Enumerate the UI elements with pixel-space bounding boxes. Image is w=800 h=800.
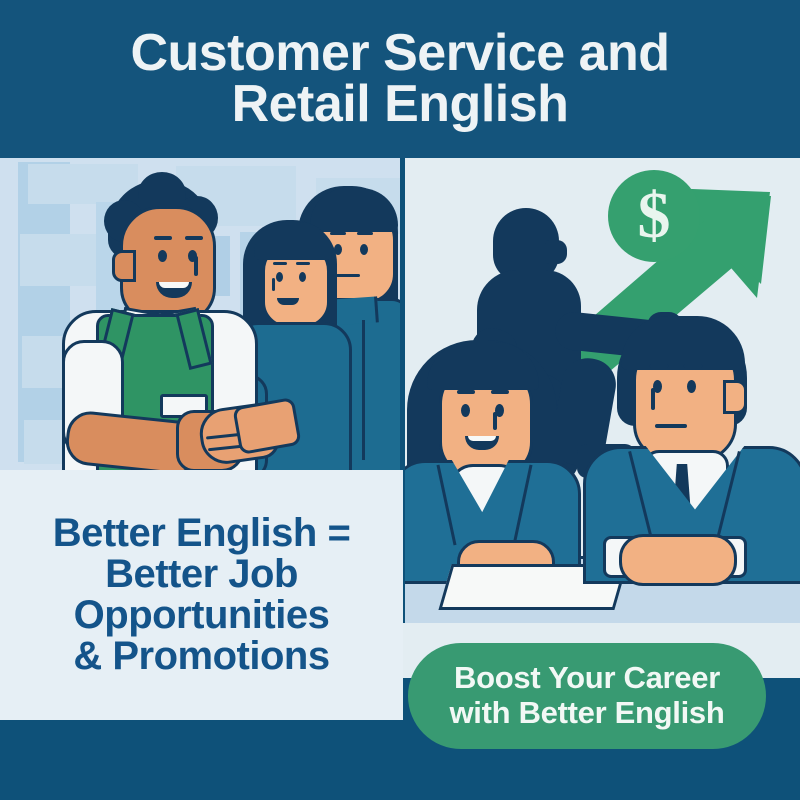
clerk-teeth [159,282,189,288]
clerk-brow [185,236,203,240]
customer-man-placket [362,320,365,460]
businesswoman-brow [491,390,509,394]
clerk-nose [194,256,198,276]
businesswoman-nose [493,412,497,430]
customer-man-mouth [336,274,360,277]
right-illustration-panel: $ [405,158,800,623]
businessman-brow [649,364,669,368]
customer-woman-nose [272,278,275,291]
businessman-mouth [655,424,687,428]
businessman-brow [683,364,703,368]
tagline-panel: Better English = Better Job Opportunitie… [0,470,403,720]
page-title: Customer Service and Retail English [100,28,699,130]
customer-man-brow [357,232,373,235]
tagline-text: Better English = Better Job Opportunitie… [43,513,361,676]
clerk-ear [112,250,136,282]
customer-woman-mouth [277,298,299,305]
businessman-nose [651,388,655,410]
clerk-brow [154,236,172,240]
poster-canvas: $ [0,0,800,800]
businessman-hands [619,534,737,586]
businessman-ear [723,380,747,414]
businessman-eye [687,380,696,393]
left-illustration-panel [0,158,400,470]
businesswoman-brow [457,390,475,394]
poster-header: Customer Service and Retail English [0,0,800,158]
customer-man-brow [330,232,346,235]
businesswoman-eye [461,404,470,417]
boost-career-cta-button[interactable]: Boost Your Career with Better English [408,643,766,749]
customer-woman-brow [273,262,287,265]
customer-man-eye [360,244,368,255]
clerk-eye [158,250,167,262]
businesswoman-teeth [468,436,496,441]
customer-woman-eye [276,272,283,282]
cta-label: Boost Your Career with Better English [449,661,724,730]
customer-woman-eye [299,272,306,282]
customer-woman-brow [296,262,310,265]
